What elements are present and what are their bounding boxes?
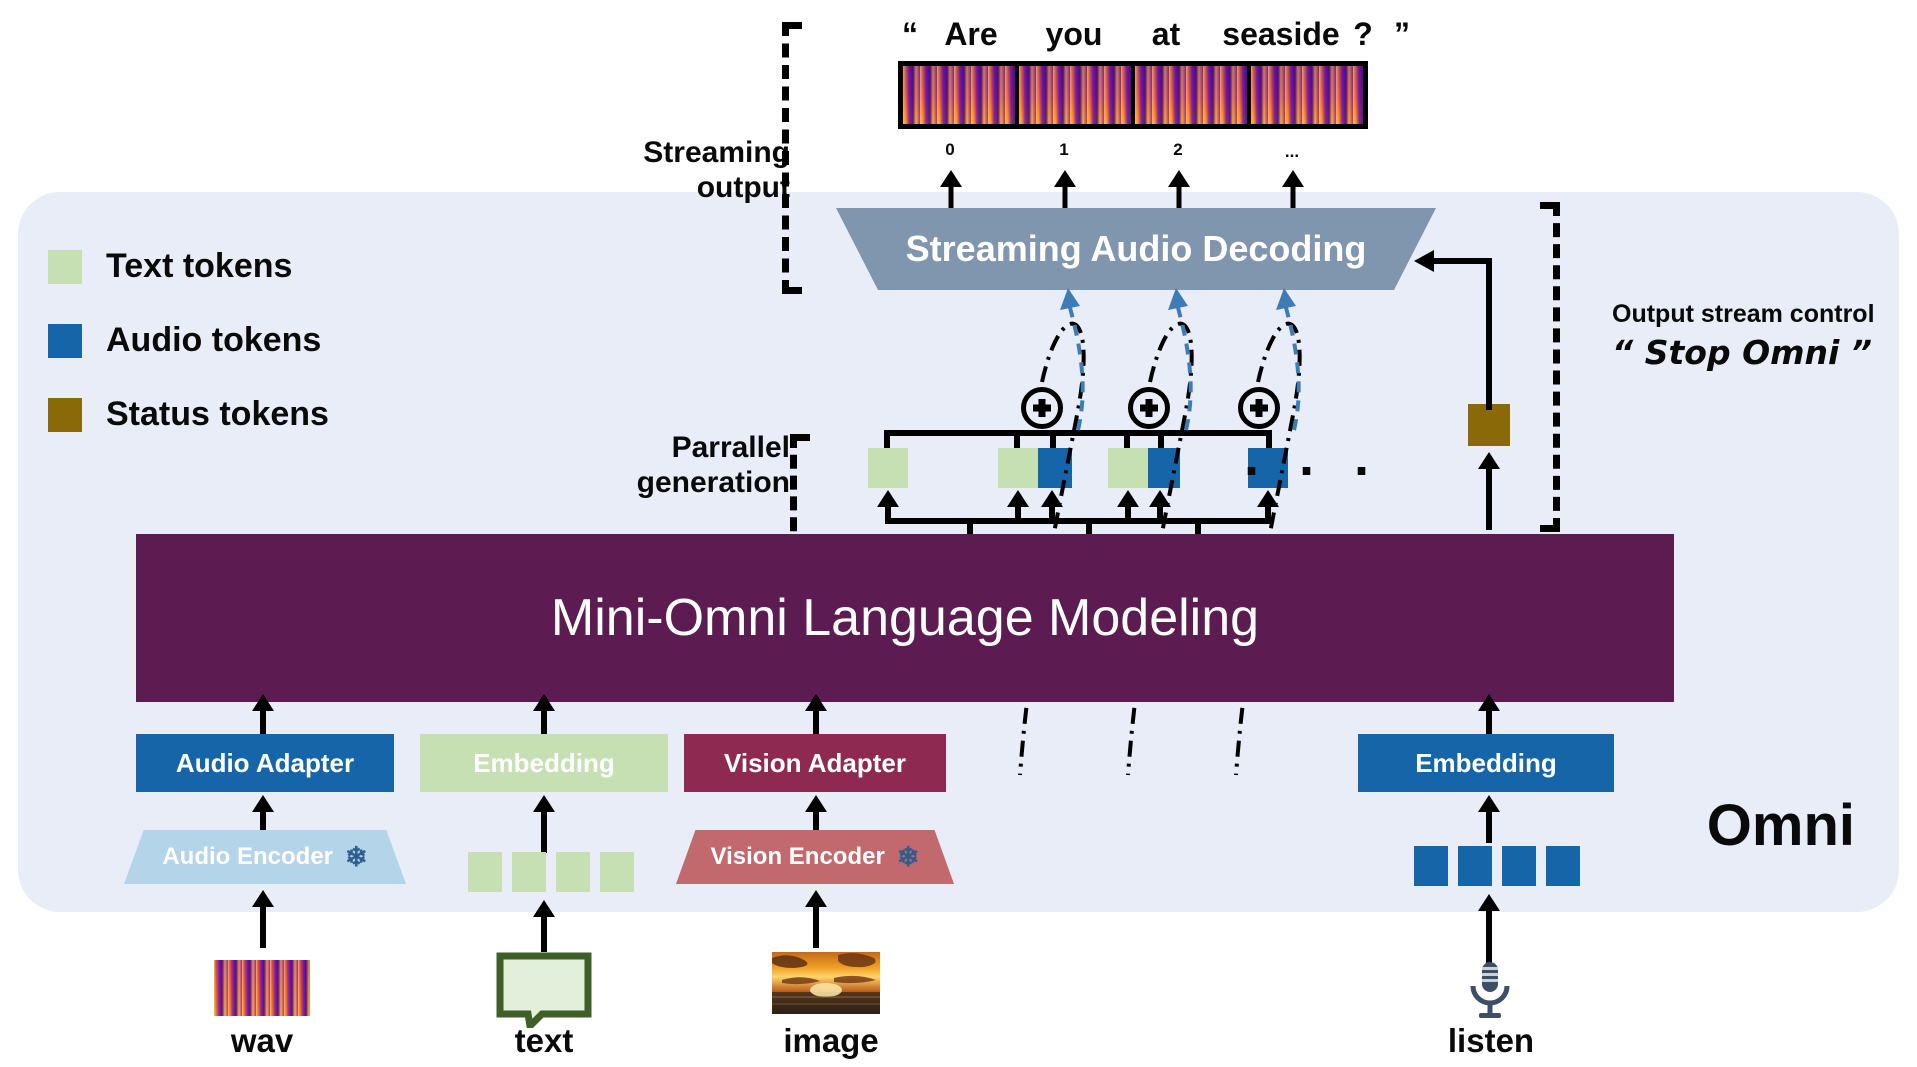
- segment-index-1: 1: [1044, 140, 1084, 160]
- audio-encoder-block[interactable]: Audio Encoder ❄: [124, 830, 406, 884]
- quote-open: “: [890, 16, 930, 53]
- wav-to-encoder-arrow: [252, 890, 274, 948]
- mini-omni-language-modeling-block[interactable]: Mini-Omni Language Modeling: [136, 534, 1674, 702]
- audio-encoder-label: Audio Encoder: [162, 843, 333, 871]
- legend-label-audio-tokens: Audio tokens: [106, 321, 321, 360]
- text-tokens-to-embedding-arrow: [533, 795, 555, 853]
- stop-omni-command: “ Stop Omni ”: [1612, 333, 1912, 372]
- plus-circle-icon: [1021, 387, 1063, 429]
- parallel-generation-label: Parrallel generation: [500, 430, 790, 501]
- listen-source-to-tokens-arrow: [1478, 894, 1500, 966]
- status-token-swatch-icon: [48, 398, 82, 432]
- streaming-output-bracket: [782, 22, 802, 294]
- vision-adapter-to-core-arrow: [805, 694, 827, 734]
- plus-circle-icon: [1128, 387, 1170, 429]
- text-token: [998, 448, 1038, 488]
- audio-adapter-to-core-arrow: [252, 694, 274, 734]
- audio-token-row: [1414, 846, 1580, 886]
- streaming-audio-decoding-label: Streaming Audio Decoding: [906, 228, 1367, 270]
- image-source-label: image: [766, 1022, 896, 1060]
- legend-item-status-tokens: Status tokens: [48, 395, 329, 434]
- audio-token: [1414, 846, 1448, 886]
- vision-encoder-label: Vision Encoder: [711, 843, 885, 871]
- legend-label-text-tokens: Text tokens: [106, 247, 292, 286]
- spectrogram-segment: [903, 66, 1019, 124]
- text-source-to-tokens-arrow: [533, 900, 555, 952]
- output-word-4: ?: [1348, 16, 1378, 53]
- audio-adapter-label: Audio Adapter: [176, 748, 354, 779]
- vision-adapter-label: Vision Adapter: [724, 748, 906, 779]
- output-word-2: at: [1131, 16, 1201, 53]
- text-token-swatch-icon: [48, 250, 82, 284]
- plus-circle-icon: [1238, 387, 1280, 429]
- audio-encoder-to-adapter-arrow: [252, 795, 274, 835]
- listen-embedding-label: Embedding: [1415, 748, 1557, 779]
- text-token: [556, 852, 590, 892]
- wav-spectrogram-thumbnail: [214, 960, 310, 1016]
- text-embedding-label: Embedding: [473, 748, 615, 779]
- speech-bubble-icon: [496, 952, 592, 1028]
- vision-encoder-block[interactable]: Vision Encoder ❄: [676, 830, 954, 884]
- image-sunset-thumbnail: [772, 952, 880, 1014]
- omni-panel-label: Omni: [1707, 792, 1855, 859]
- streaming-output-label: Streaming output: [520, 135, 790, 206]
- microphone-icon: [1462, 960, 1518, 1022]
- wav-source-label: wav: [202, 1022, 322, 1060]
- text-source-label: text: [484, 1022, 604, 1060]
- text-token: [468, 852, 502, 892]
- listen-embedding-to-core-arrow: [1478, 694, 1500, 734]
- parallel-groups-ellipsis: · · ·: [1244, 444, 1383, 498]
- image-to-encoder-arrow: [805, 890, 827, 948]
- parallel-generation-line2: generation: [500, 465, 790, 500]
- output-word-1: you: [1026, 16, 1122, 53]
- text-token-row: [468, 852, 634, 892]
- decoder-to-segment-arrow: [1168, 170, 1190, 210]
- snowflake-icon: ❄: [897, 842, 920, 873]
- output-stream-control-label: Output stream control: [1612, 300, 1912, 329]
- core-to-status-arrow: [1478, 452, 1500, 530]
- audio-adapter-block[interactable]: Audio Adapter: [136, 734, 394, 792]
- text-token: [1108, 448, 1148, 488]
- spectrogram-segment: [1251, 66, 1363, 124]
- output-stream-control-bracket: [1540, 202, 1560, 532]
- streaming-output-line1: Streaming: [520, 135, 790, 170]
- merge-bracket: [1124, 430, 1272, 436]
- status-to-decoder-line: [1486, 258, 1492, 410]
- spectrogram-segment: [1019, 66, 1135, 124]
- segment-index-3: ...: [1272, 142, 1312, 162]
- text-embedding-block[interactable]: Embedding: [420, 734, 668, 792]
- quote-close: ”: [1382, 16, 1422, 53]
- segment-index-2: 2: [1158, 140, 1198, 160]
- status-token: [1468, 404, 1510, 446]
- vision-encoder-to-adapter-arrow: [805, 795, 827, 835]
- audio-token: [1546, 846, 1580, 886]
- streaming-output-line2: output: [520, 170, 790, 205]
- text-token: [868, 448, 908, 488]
- text-token: [600, 852, 634, 892]
- legend-label-status-tokens: Status tokens: [106, 395, 329, 434]
- spectrogram-segment: [1135, 66, 1251, 124]
- output-word-0: Are: [926, 16, 1016, 53]
- output-word-3: seaside: [1206, 16, 1356, 53]
- parallel-generation-line1: Parrallel: [500, 430, 790, 465]
- decoder-to-segment-arrow: [940, 170, 962, 210]
- text-token: [512, 852, 546, 892]
- output-stream-control: Output stream control “ Stop Omni ”: [1612, 300, 1912, 372]
- listen-source-label: listen: [1428, 1022, 1554, 1060]
- snowflake-icon: ❄: [345, 842, 368, 873]
- decoder-to-segment-arrow: [1282, 170, 1304, 210]
- decoder-to-segment-arrow: [1054, 170, 1076, 210]
- status-to-decoder-line: [1432, 258, 1492, 264]
- audio-token-swatch-icon: [48, 324, 82, 358]
- audio-token: [1032, 448, 1072, 488]
- listen-embedding-block[interactable]: Embedding: [1358, 734, 1614, 792]
- vision-adapter-block[interactable]: Vision Adapter: [684, 734, 946, 792]
- legend-item-audio-tokens: Audio tokens: [48, 321, 321, 360]
- audio-token: [1458, 846, 1492, 886]
- segment-index-0: 0: [930, 140, 970, 160]
- legend-item-text-tokens: Text tokens: [48, 247, 292, 286]
- listen-tokens-to-embedding-arrow: [1478, 795, 1500, 843]
- text-embedding-to-core-arrow: [533, 694, 555, 734]
- streaming-audio-decoding-block[interactable]: Streaming Audio Decoding: [836, 208, 1436, 290]
- audio-token: [1502, 846, 1536, 886]
- output-spectrogram-strip: [898, 61, 1368, 129]
- status-to-decoder-arrowhead: [1414, 250, 1434, 272]
- mini-omni-language-modeling-label: Mini-Omni Language Modeling: [551, 588, 1259, 648]
